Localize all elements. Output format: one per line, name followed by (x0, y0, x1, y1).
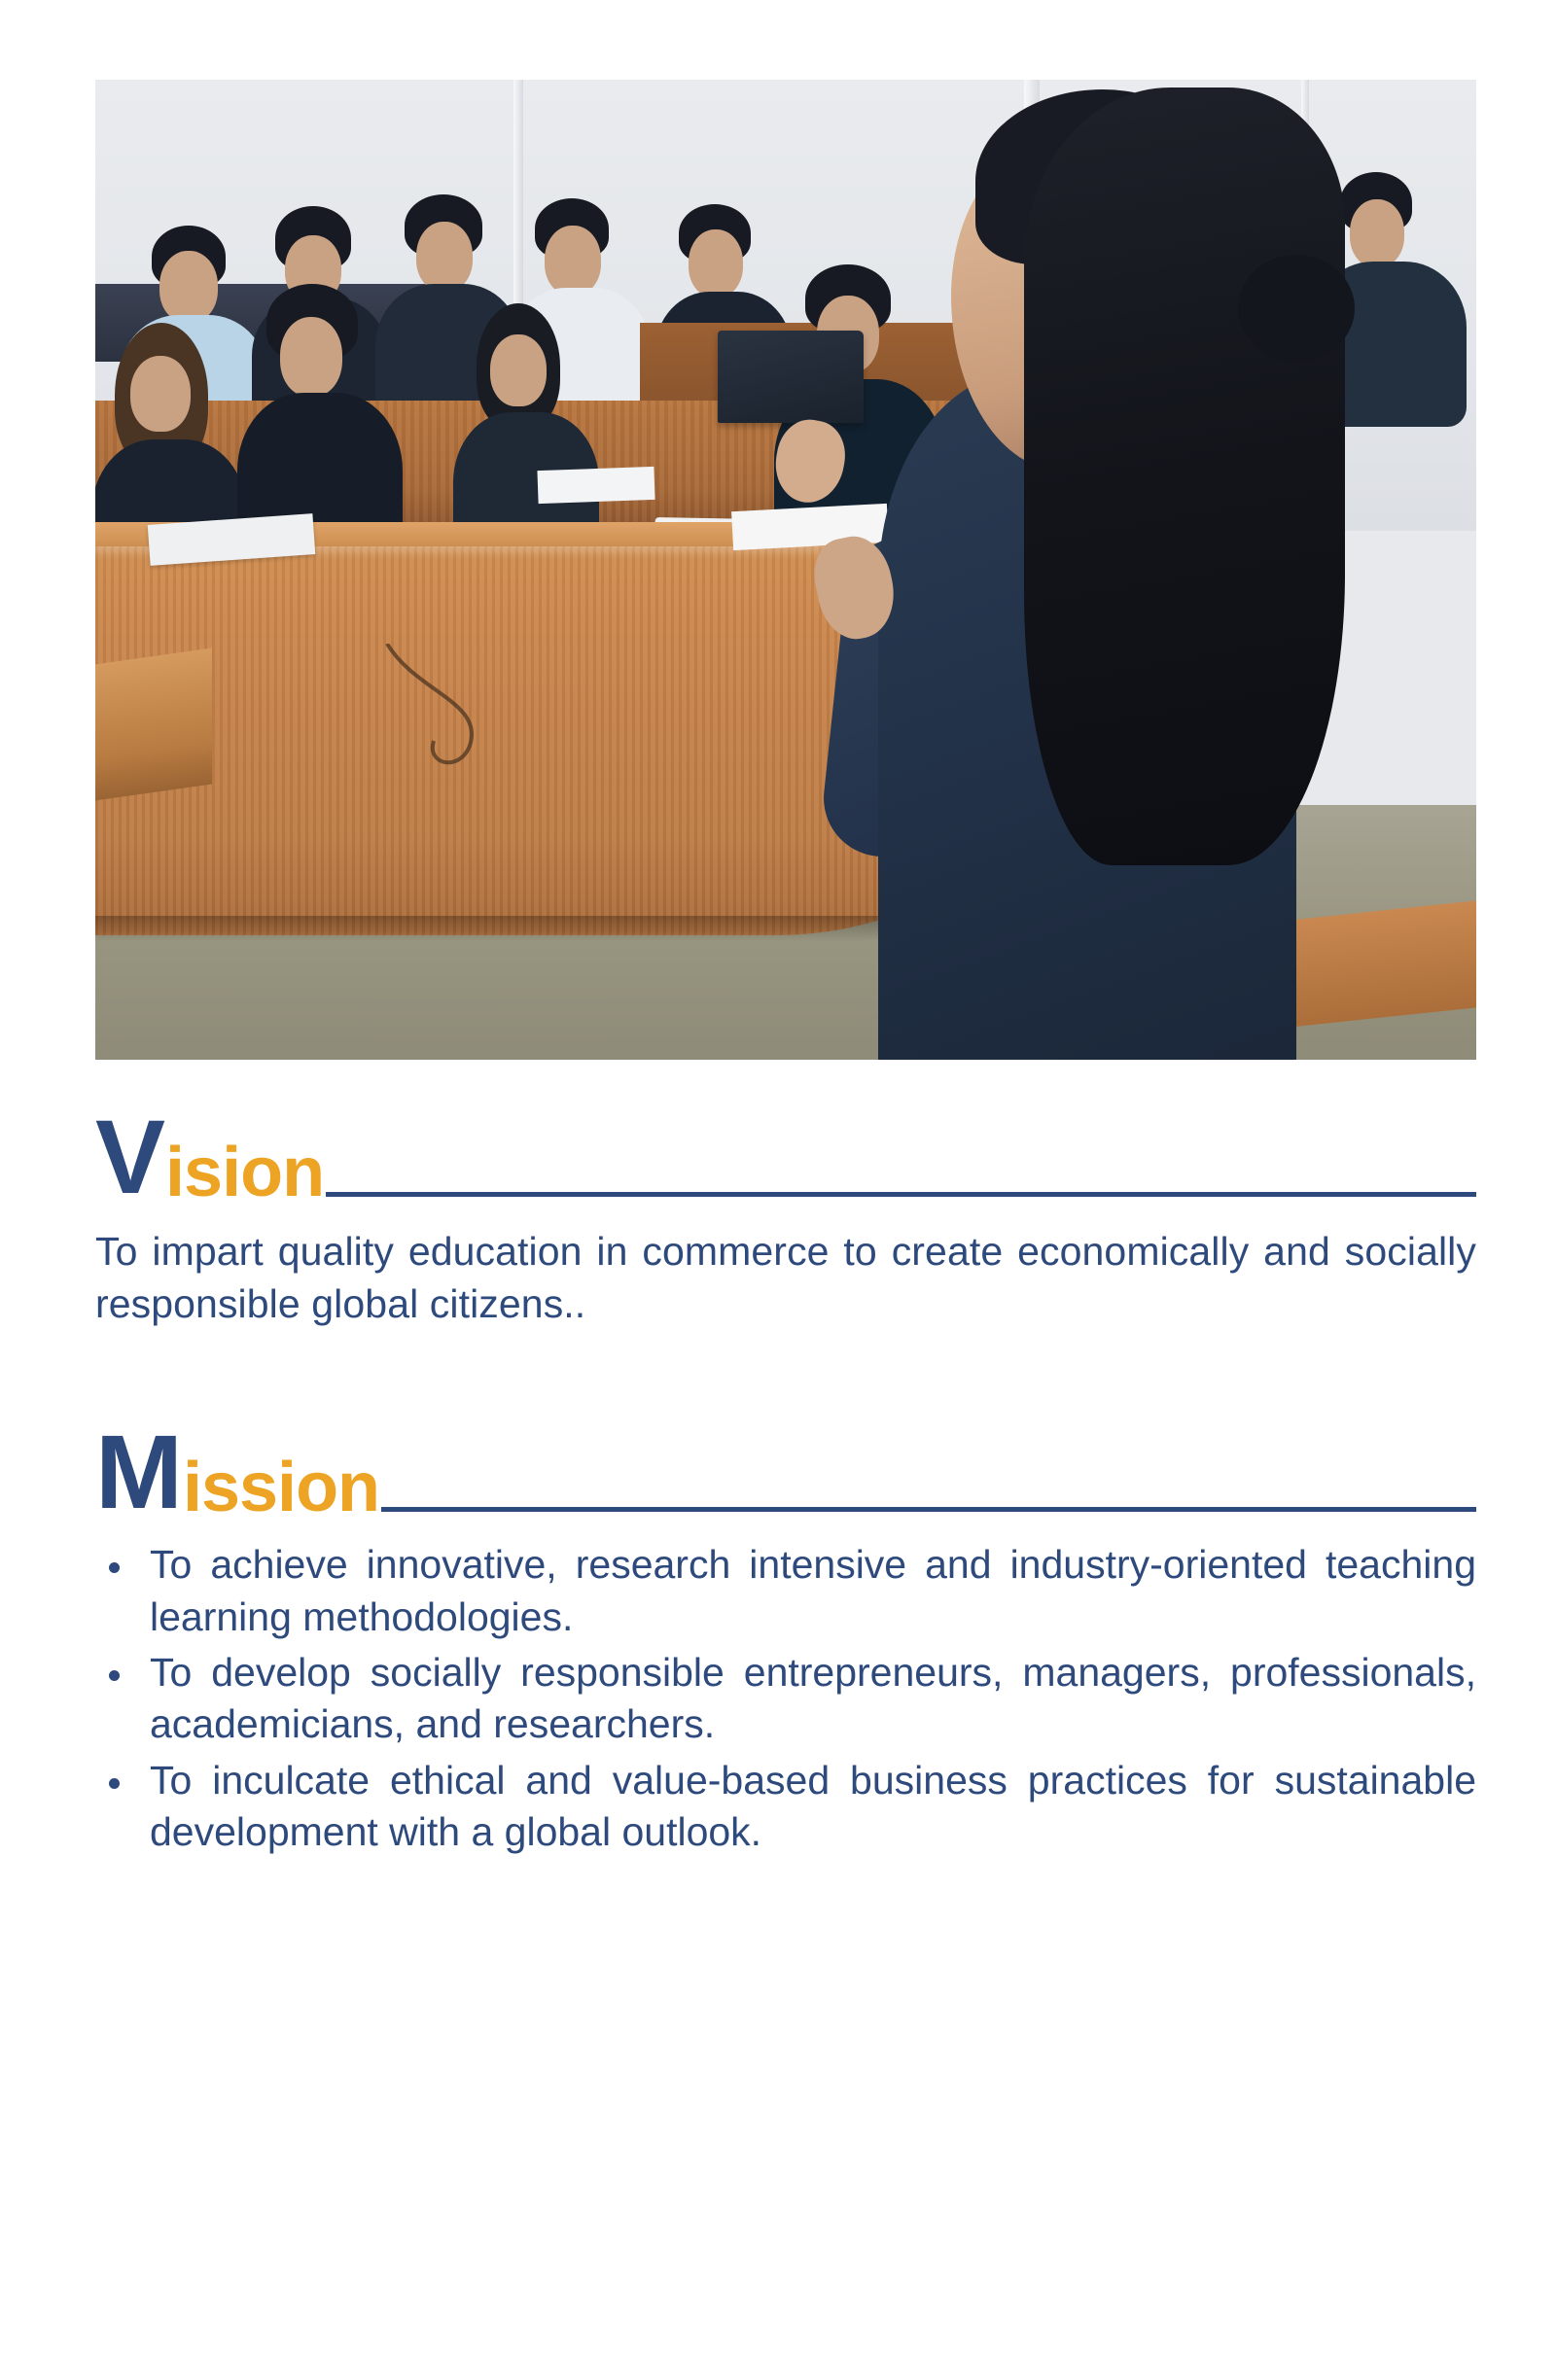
instructor-hair-bun (1238, 255, 1355, 362)
vision-heading: Vision (95, 1108, 1476, 1205)
cable (377, 644, 552, 789)
list-item: To develop socially responsible entrepre… (95, 1647, 1476, 1751)
bullet-dot-icon (109, 1778, 120, 1789)
mission-heading-capital: M (95, 1423, 182, 1520)
bullet-dot-icon (109, 1562, 120, 1573)
mission-list: To achieve innovative, research intensiv… (95, 1539, 1476, 1858)
list-item-text: To develop socially responsible entrepre… (150, 1650, 1476, 1746)
mission-heading: Mission (95, 1423, 1476, 1520)
mission-heading-rest: ission (183, 1455, 379, 1520)
content-area: Vision To impart quality education in co… (95, 1108, 1476, 1862)
vision-text: To impart quality education in commerce … (95, 1226, 1476, 1330)
laptop (718, 331, 864, 423)
paper-sheet (537, 467, 654, 504)
bullet-dot-icon (109, 1670, 120, 1681)
classroom-photo-scene (95, 80, 1476, 1060)
list-item-text: To achieve innovative, research intensiv… (150, 1542, 1476, 1638)
mission-heading-rule (381, 1507, 1476, 1512)
list-item-text: To inculcate ethical and value-based bus… (150, 1758, 1476, 1854)
vision-heading-rule (326, 1192, 1476, 1197)
instructor-hair (1024, 87, 1345, 865)
vision-heading-rest: ision (165, 1140, 324, 1205)
mission-section: Mission To achieve innovative, research … (95, 1423, 1476, 1858)
list-item: To achieve innovative, research intensiv… (95, 1539, 1476, 1643)
side-podium (95, 647, 212, 804)
classroom-photo (95, 80, 1476, 1060)
list-item: To inculcate ethical and value-based bus… (95, 1755, 1476, 1859)
vision-heading-capital: V (95, 1108, 164, 1205)
vision-section: Vision To impart quality education in co… (95, 1108, 1476, 1330)
